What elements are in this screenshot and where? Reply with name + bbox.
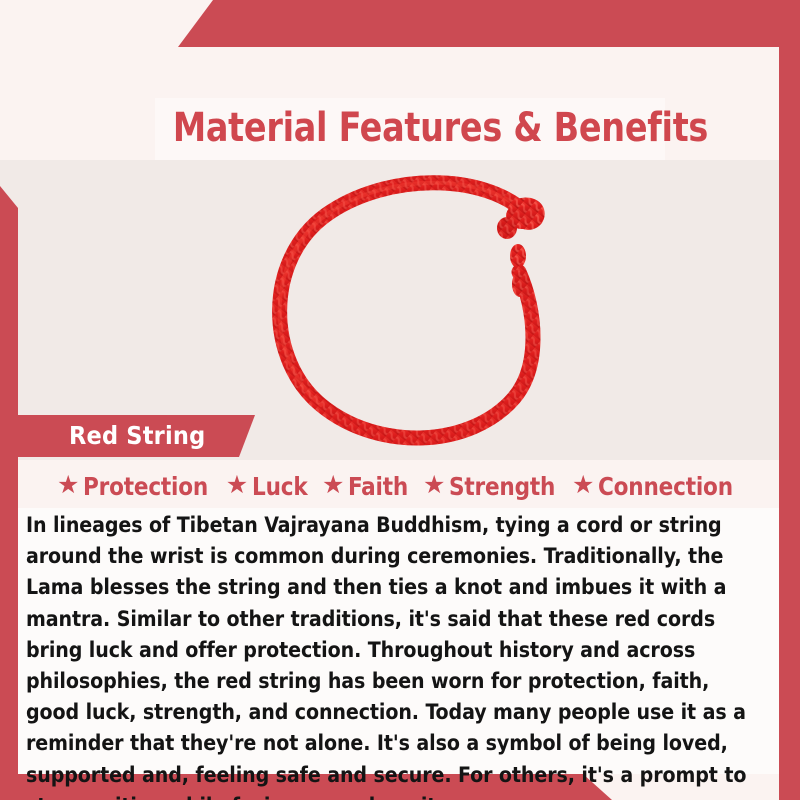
feature-list: ★ Protection ★ Luck ★ Faith ★ Strength ★… — [18, 468, 778, 504]
feature-item-strength: ★ Strength — [417, 472, 566, 501]
feature-label: Luck — [252, 472, 308, 501]
description-paragraph: In lineages of Tibetan Vajrayana Buddhis… — [26, 510, 763, 800]
red-string-banner-label: Red String — [69, 415, 205, 457]
star-icon: ★ — [572, 473, 594, 498]
feature-label: Faith — [348, 472, 408, 501]
right-red-rail — [779, 0, 800, 800]
feature-label: Connection — [598, 472, 733, 501]
feature-item-protection: ★ Protection — [51, 472, 220, 501]
page-title: Material Features & Benefits — [173, 100, 647, 156]
feature-item-luck: ★ Luck — [220, 472, 316, 501]
star-icon: ★ — [226, 473, 248, 498]
left-red-rail — [0, 186, 18, 800]
feature-label: Strength — [449, 472, 555, 501]
feature-item-faith: ★ Faith — [316, 472, 417, 501]
feature-label: Protection — [83, 472, 208, 501]
product-feature-card: Material Features & Benefits — [0, 0, 800, 800]
star-icon: ★ — [322, 473, 344, 498]
bracelet-illustration — [236, 160, 588, 460]
product-image — [236, 160, 588, 460]
star-icon: ★ — [57, 473, 79, 498]
feature-item-connection: ★ Connection — [566, 472, 745, 501]
star-icon: ★ — [423, 473, 445, 498]
